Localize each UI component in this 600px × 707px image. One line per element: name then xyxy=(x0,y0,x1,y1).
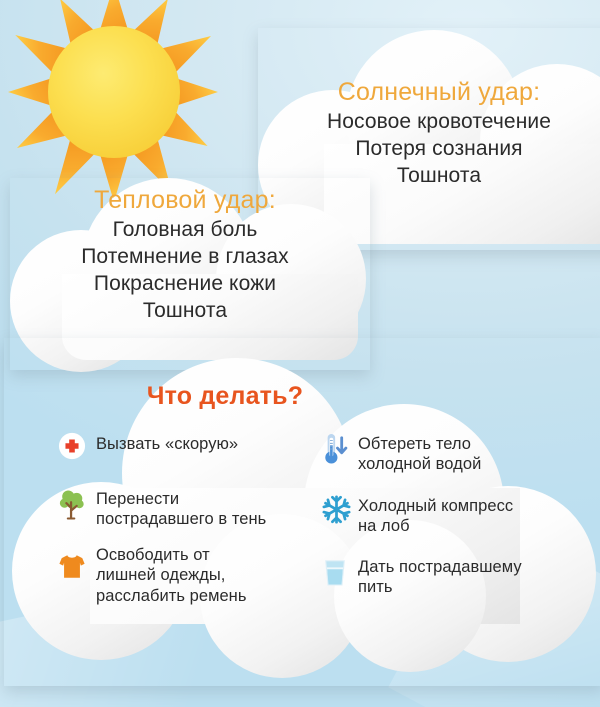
action-text-line: Обтереть тело xyxy=(358,434,481,454)
action-text-line: лишней одежды, xyxy=(96,565,247,585)
action-item: Обтереть тело холодной водой xyxy=(322,432,600,475)
heatstroke-symptom: Покраснение кожи xyxy=(24,270,346,297)
action-text-line: холодной водой xyxy=(358,454,481,474)
action-text: Обтереть тело холодной водой xyxy=(358,432,481,475)
thermometer-down-icon xyxy=(322,432,352,466)
action-item: Освободить от лишней одежды, расслабить … xyxy=(58,543,300,606)
action-text-line: Дать пострадавшему xyxy=(358,557,522,577)
infographic-poster: Солнечный удар: Носовое кровотечение Пот… xyxy=(0,0,600,707)
heatstroke-symptom: Головная боль xyxy=(24,216,346,243)
action-text-line: Освободить от xyxy=(96,545,247,565)
action-text: Перенести пострадавшего в тень xyxy=(96,487,266,530)
action-item: Дать пострадавшему пить xyxy=(322,555,600,598)
sunstroke-symptom: Потеря сознания xyxy=(288,135,590,162)
actions-title: Что делать? xyxy=(0,382,450,411)
action-text-line: Холодный компресс xyxy=(358,496,513,516)
water-glass-icon xyxy=(322,557,352,591)
sunstroke-symptom: Носовое кровотечение xyxy=(288,108,590,135)
heatstroke-symptom: Тошнота xyxy=(24,297,346,324)
red-cross-icon xyxy=(58,432,88,466)
snowflake-icon xyxy=(322,495,352,529)
action-text: Дать пострадавшему пить xyxy=(358,555,522,598)
action-text: Вызвать «скорую» xyxy=(96,432,238,454)
actions-columns: Вызвать «скорую» xyxy=(0,432,600,662)
heatstroke-symptom: Потемнение в глазах xyxy=(24,243,346,270)
action-item: Вызвать «скорую» xyxy=(58,432,300,466)
tshirt-icon xyxy=(58,553,88,587)
action-text-line: на лоб xyxy=(358,516,513,536)
action-text-line: Перенести xyxy=(96,489,266,509)
action-item: Перенести пострадавшего в тень xyxy=(58,487,300,530)
tree-icon xyxy=(58,489,88,523)
actions-left-column: Вызвать «скорую» xyxy=(0,432,300,621)
heatstroke-title: Тепловой удар: xyxy=(24,186,346,216)
heatstroke-content: Тепловой удар: Головная боль Потемнение … xyxy=(24,186,346,325)
action-text: Освободить от лишней одежды, расслабить … xyxy=(96,543,247,606)
sunstroke-content: Солнечный удар: Носовое кровотечение Пот… xyxy=(288,78,590,189)
actions-right-column: Обтереть тело холодной водой xyxy=(300,432,600,613)
action-text-line: пить xyxy=(358,577,522,597)
sunstroke-title: Солнечный удар: xyxy=(288,78,590,108)
action-text-line: пострадавшего в тень xyxy=(96,509,266,529)
action-text-line: расслабить ремень xyxy=(96,586,247,606)
action-item: Холодный компресс на лоб xyxy=(322,494,600,537)
action-text: Холодный компресс на лоб xyxy=(358,494,513,537)
